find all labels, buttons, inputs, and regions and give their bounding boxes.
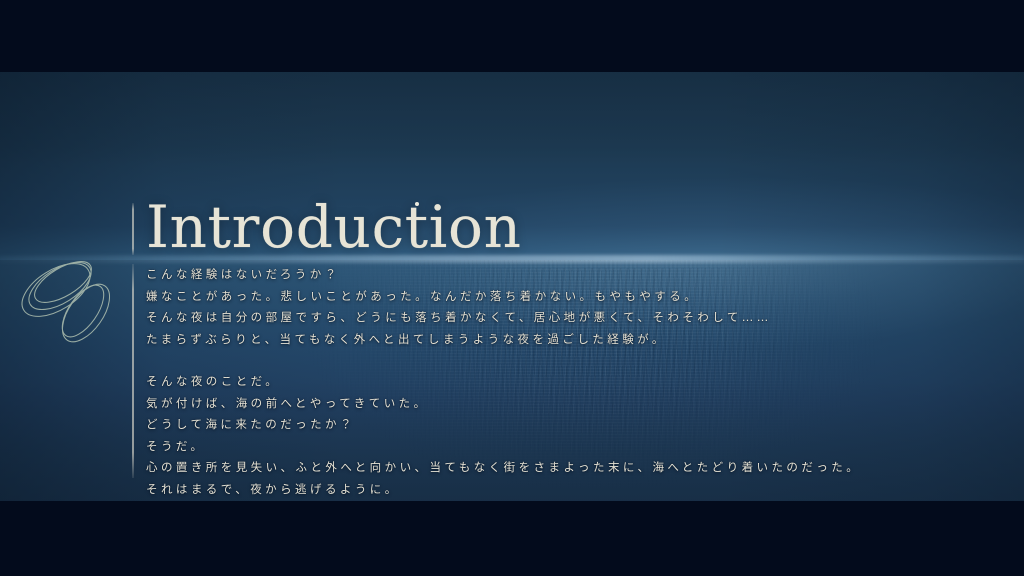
letterbox-bar-top xyxy=(0,0,1024,72)
text-line: たまらずぶらりと、当てもなく外へと出てしまうような夜を過ごした経験が。 xyxy=(146,329,946,351)
text-line: それはまるで、夜から逃げるように。 xyxy=(146,479,946,501)
text-line: 嫌なことがあった。悲しいことがあった。なんだか落ち着かない。もやもやする。 xyxy=(146,286,946,308)
page-title: Introduction xyxy=(146,192,522,262)
text-line: そうだ。 xyxy=(146,436,946,458)
text-line: 心の置き所を見失い、ふと外へと向かい、当てもなく街をさまよった末に、海へとたどり… xyxy=(146,457,946,479)
vertical-accent-rule-body xyxy=(132,264,134,478)
text-line: そんな夜は自分の部屋ですら、どうにも落ち着かなくて、居心地が悪くて、そわそわして… xyxy=(146,307,946,329)
letterbox-bar-bottom xyxy=(0,501,1024,576)
text-line: 気が付けば、海の前へとやってきていた。 xyxy=(146,393,946,415)
text-line: こんな経験はないだろうか？ xyxy=(146,264,946,286)
body-text: こんな経験はないだろうか？ 嫌なことがあった。悲しいことがあった。なんだか落ち着… xyxy=(146,264,946,500)
interlocking-rings-ornament xyxy=(14,243,126,355)
text-line: そんな夜のことだ。 xyxy=(146,371,946,393)
paragraph: こんな経験はないだろうか？ 嫌なことがあった。悲しいことがあった。なんだか落ち着… xyxy=(146,264,946,350)
slide-canvas: Introduction こんな経験はないだろうか？ 嫌なことがあった。悲しいこ… xyxy=(0,0,1024,576)
paragraph: そんな夜のことだ。 気が付けば、海の前へとやってきていた。 どうして海に来たのだ… xyxy=(146,371,946,500)
title-accent-dot xyxy=(415,202,419,206)
text-line: どうして海に来たのだったか？ xyxy=(146,414,946,436)
vertical-accent-rule-title xyxy=(132,203,134,255)
